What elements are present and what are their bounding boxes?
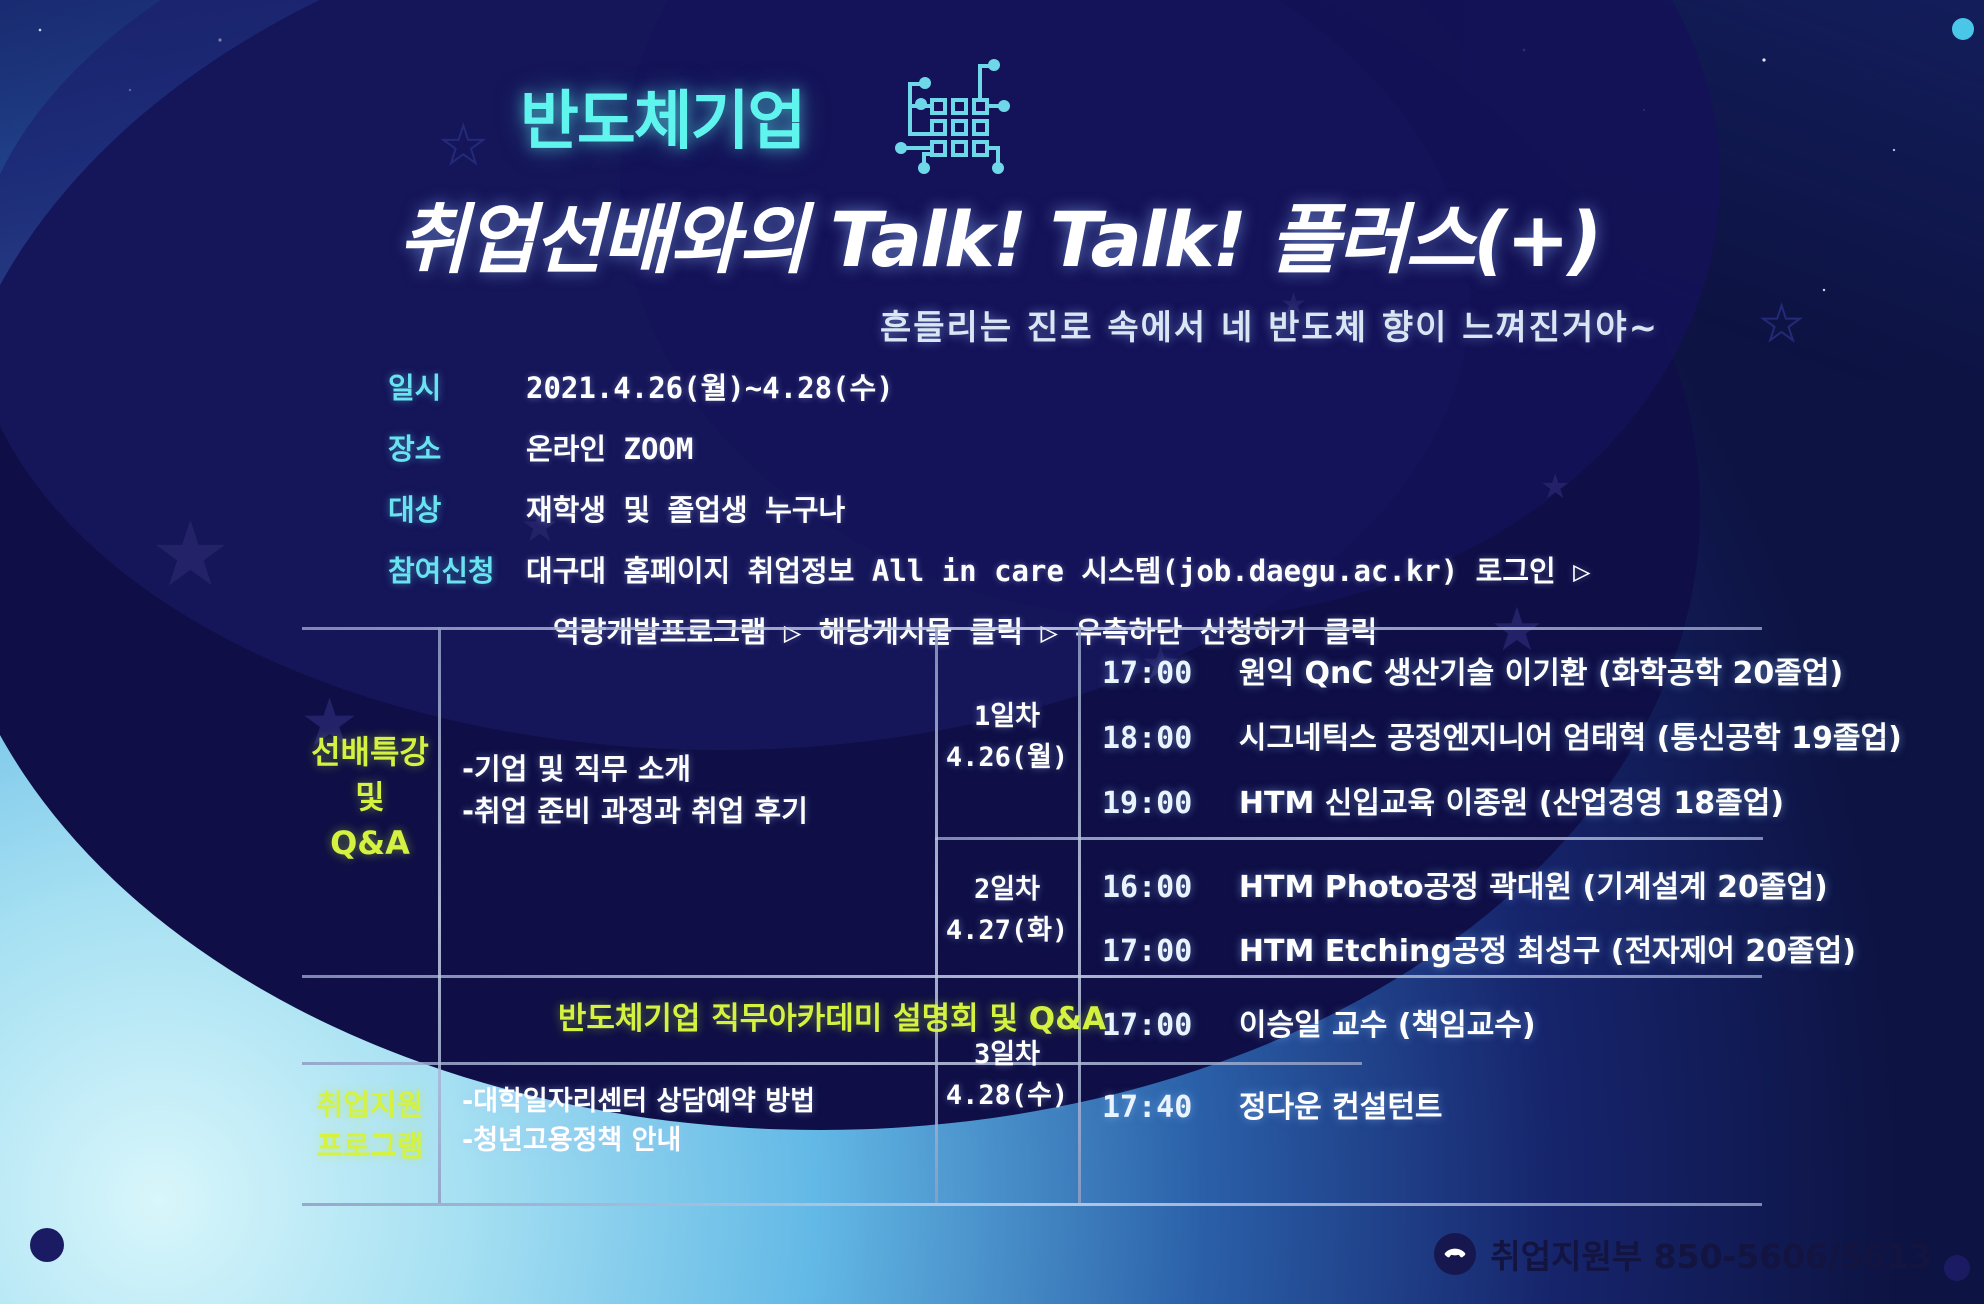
session-time: 17:00 bbox=[1102, 934, 1228, 969]
session-text: HTM Photo공정 곽대원 (기계설계 20졸업) bbox=[1239, 870, 1828, 905]
schedule-category-1: 선배특강 및 Q&A bbox=[302, 730, 438, 866]
schedule-day-2: 2일차 4.27(화) bbox=[938, 870, 1076, 951]
info-row-audience: 대상 재학생 및 졸업생 누구나 bbox=[388, 487, 1688, 529]
session-time: 17:00 bbox=[1102, 656, 1228, 691]
schedule-day-1: 1일차 4.26(월) bbox=[938, 697, 1076, 778]
session-row: 17:00 HTM Etching공정 최성구 (전자제어 20졸업) bbox=[1102, 926, 1856, 970]
schedule-description-3: -대학일자리센터 상담예약 방법 -청년고용정책 안내 bbox=[462, 1082, 932, 1160]
session-row: 19:00 HTM 신입교육 이종원 (산업경영 18졸업) bbox=[1102, 778, 1784, 822]
table-rule-mid1 bbox=[935, 837, 1763, 840]
session-time: 16:00 bbox=[1102, 870, 1228, 905]
schedule-category-3: 취업지원 프로그램 bbox=[302, 1085, 438, 1167]
day-label: 3일차 bbox=[938, 1035, 1076, 1076]
info-value: 대구대 홈페이지 취업정보 All in care 시스템(job.daegu.… bbox=[526, 548, 1591, 590]
day-date: 4.27(화) bbox=[938, 911, 1076, 952]
category-line: 선배특강 bbox=[302, 730, 438, 775]
table-rule-top bbox=[302, 627, 1762, 630]
category-line: 및 bbox=[302, 775, 438, 820]
day-date: 4.26(월) bbox=[938, 738, 1076, 779]
schedule-day-3: 3일차 4.28(수) bbox=[938, 1035, 1076, 1116]
session-text: 시그네틱스 공정엔지니어 엄태혁 (통신공학 19졸업) bbox=[1239, 721, 1902, 756]
table-rule-bottom bbox=[302, 1203, 1762, 1206]
schedule-description-1: -기업 및 직무 소개 -취업 준비 과정과 취업 후기 bbox=[462, 748, 922, 832]
contact-text: 취업지원부 850-5606/5613 bbox=[1490, 1230, 1932, 1278]
poster-root: ★ ★ ★ ★ ★ ★ ★ ★ ★ 반도체기업 bbox=[0, 0, 1984, 1304]
session-row: 18:00 시그네틱스 공정엔지니어 엄태혁 (통신공학 19졸업) bbox=[1102, 713, 1902, 757]
category-line: 취업지원 bbox=[302, 1085, 438, 1126]
session-text: HTM 신입교육 이종원 (산업경영 18졸업) bbox=[1239, 786, 1784, 821]
info-label: 대상 bbox=[388, 487, 526, 529]
session-row: 16:00 HTM Photo공정 곽대원 (기계설계 20졸업) bbox=[1102, 862, 1828, 906]
description-line: -기업 및 직무 소개 bbox=[462, 748, 922, 790]
description-line: -대학일자리센터 상담예약 방법 bbox=[462, 1082, 932, 1121]
phone-icon bbox=[1434, 1233, 1476, 1275]
table-divider-1 bbox=[438, 627, 441, 1203]
info-value-apply-line2: 역량개발프로그램 ▷ 해당게시물 클릭 ▷ 우측하단 신청하기 클릭 bbox=[553, 609, 1688, 651]
info-label: 장소 bbox=[388, 426, 526, 468]
page-title: 취업선배와의 Talk! Talk! 플러스(+) bbox=[398, 178, 1601, 288]
description-line: -취업 준비 과정과 취업 후기 bbox=[462, 790, 922, 832]
info-value: 2021.4.26(월)~4.28(수) bbox=[526, 365, 894, 407]
description-line: -청년고용정책 안내 bbox=[462, 1121, 932, 1160]
info-row-place: 장소 온라인 ZOOM bbox=[388, 426, 1688, 468]
table-rule-mid3 bbox=[302, 1062, 1362, 1065]
session-row: 17:00 원익 QnC 생산기술 이기환 (화학공학 20졸업) bbox=[1102, 648, 1843, 692]
category-line: Q&A bbox=[302, 821, 438, 866]
info-label: 참여신청 bbox=[388, 548, 526, 590]
category-line: 프로그램 bbox=[302, 1126, 438, 1167]
session-time: 19:00 bbox=[1102, 786, 1228, 821]
eyebrow-heading: 반도체기업 bbox=[520, 70, 804, 162]
day-label: 1일차 bbox=[938, 697, 1076, 738]
session-text: 정다운 컨설턴트 bbox=[1239, 1090, 1443, 1125]
day-date: 4.28(수) bbox=[938, 1076, 1076, 1117]
info-row-apply: 참여신청 대구대 홈페이지 취업정보 All in care 시스템(job.d… bbox=[388, 548, 1688, 590]
contact-block: 취업지원부 850-5606/5613 bbox=[1434, 1230, 1932, 1278]
session-text: HTM Etching공정 최성구 (전자제어 20졸업) bbox=[1239, 934, 1856, 969]
session-row: 17:00 이승일 교수 (책임교수) bbox=[1102, 1000, 1536, 1044]
table-divider-3 bbox=[1078, 627, 1081, 1203]
info-list: 일시 2021.4.26(월)~4.28(수) 장소 온라인 ZOOM 대상 재… bbox=[388, 365, 1688, 651]
info-value: 재학생 및 졸업생 누구나 bbox=[526, 487, 845, 529]
session-text: 원익 QnC 생산기술 이기환 (화학공학 20졸업) bbox=[1239, 656, 1843, 691]
circuit-chip-icon bbox=[880, 44, 1010, 174]
session-row: 17:40 정다운 컨설턴트 bbox=[1102, 1082, 1443, 1126]
info-row-datetime: 일시 2021.4.26(월)~4.28(수) bbox=[388, 365, 1688, 407]
day-label: 2일차 bbox=[938, 870, 1076, 911]
session-text: 이승일 교수 (책임교수) bbox=[1239, 1008, 1536, 1043]
session-time: 17:40 bbox=[1102, 1090, 1228, 1125]
table-rule-mid2 bbox=[302, 975, 1762, 978]
session-time: 17:00 bbox=[1102, 1008, 1228, 1043]
tagline: 흔들리는 진로 속에서 네 반도체 향이 느껴진거야~ bbox=[880, 300, 1659, 349]
session-time: 18:00 bbox=[1102, 721, 1228, 756]
info-label: 일시 bbox=[388, 365, 526, 407]
info-value: 온라인 ZOOM bbox=[526, 426, 693, 468]
